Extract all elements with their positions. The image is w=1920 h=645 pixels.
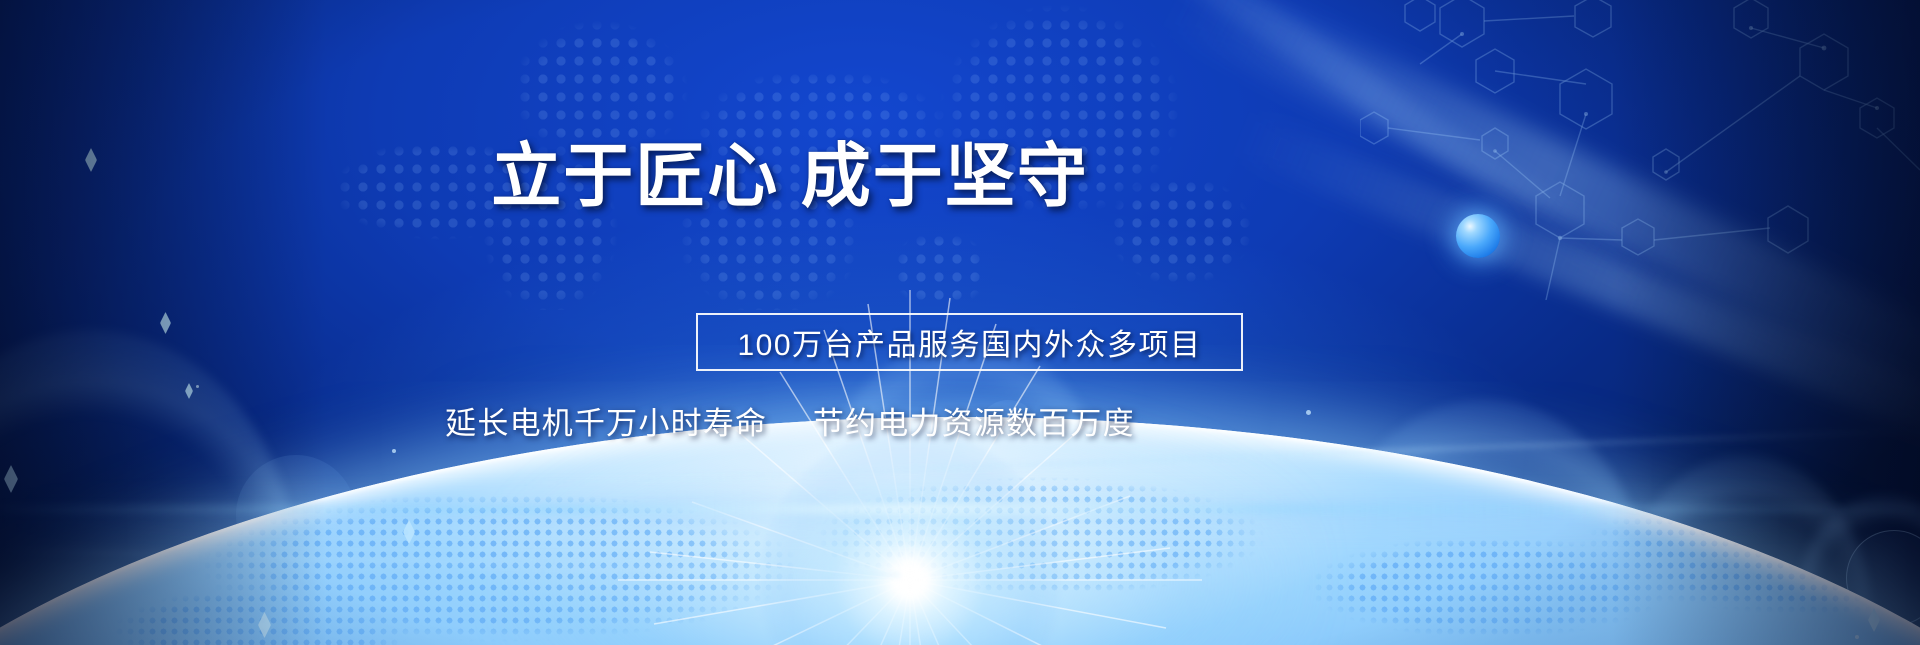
boxed-subtitle: 100万台产品服务国内外众多项目: [696, 313, 1243, 371]
banner-content: 立于匠心 成于坚守 100万台产品服务国内外众多项目 延长电机千万小时寿命 节约…: [0, 0, 1920, 645]
banner-headline: 立于匠心 成于坚守: [0, 141, 1580, 211]
tagline-left-text: 延长电机千万小时寿命: [445, 406, 767, 441]
tagline-right-text: 节约电力资源数百万度: [813, 406, 1135, 441]
hero-banner: 立于匠心 成于坚守 100万台产品服务国内外众多项目 延长电机千万小时寿命 节约…: [0, 0, 1920, 645]
boxed-subtitle-text: 100万台产品服务国内外众多项目: [737, 320, 1201, 364]
banner-tagline: 延长电机千万小时寿命 节约电力资源数百万度: [0, 398, 1580, 443]
